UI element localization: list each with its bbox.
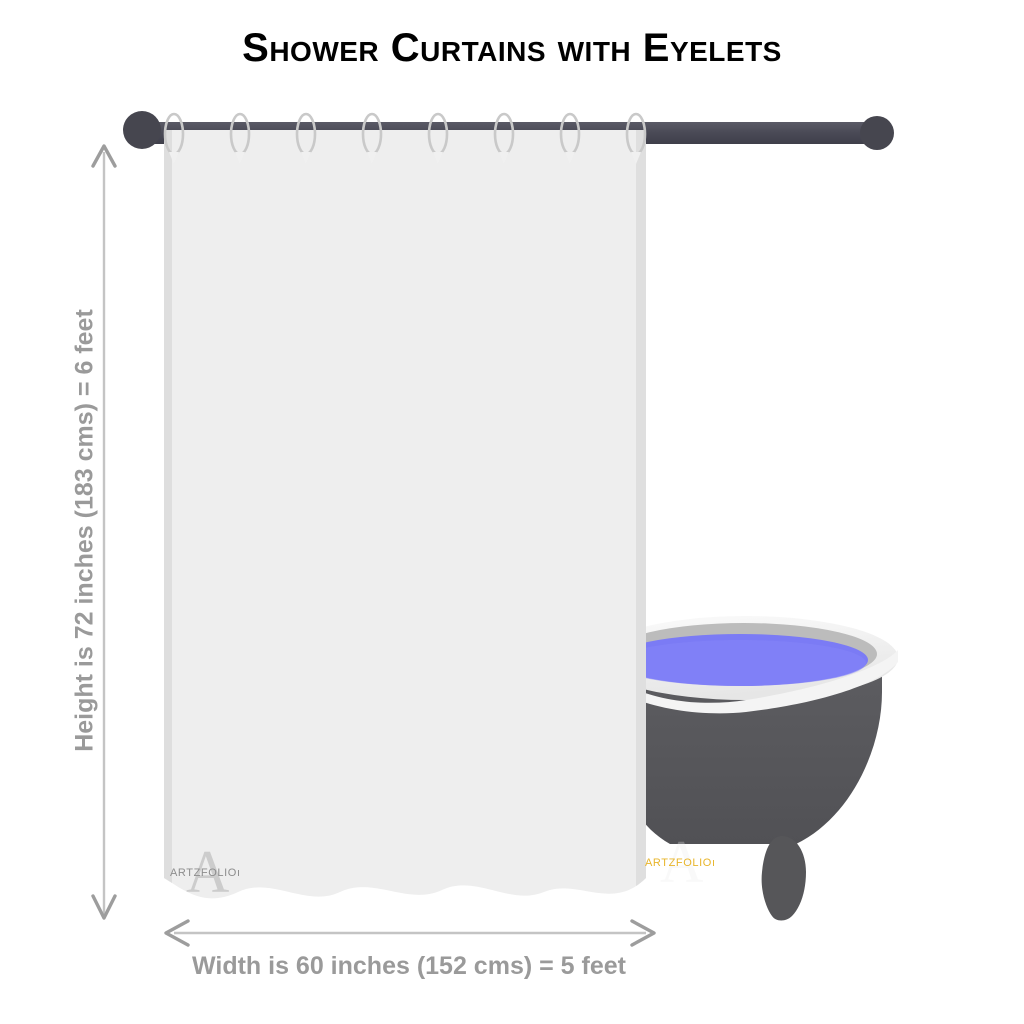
width-dimension-label: Width is 60 inches (152 cms) = 5 feet: [0, 952, 818, 981]
curtain-eyelet-ring: [561, 114, 579, 164]
product-dimension-diagram: Shower Curtains with Eyelets: [0, 0, 1024, 1024]
curtain-eyelet-ring: [627, 114, 645, 164]
eyelet-ring-loop: [495, 114, 513, 154]
eyelet-ring-loop: [429, 114, 447, 154]
eyelet-ring-loop: [627, 114, 645, 154]
curtain-eyelet-ring: [297, 114, 315, 164]
eyelet-hook-tip: [169, 152, 179, 164]
eyelet-ring-loop: [363, 114, 381, 154]
curtain-eyelet-ring: [363, 114, 381, 164]
eyelet-ring-loop: [165, 114, 183, 154]
eyelet-ring-loop: [561, 114, 579, 154]
eyelet-hook-tip: [235, 152, 245, 164]
eyelet-hook-tip: [499, 152, 509, 164]
bathtub-claw-foot: [762, 836, 806, 921]
eyelet-hook-tip: [301, 152, 311, 164]
curtain-eyelet-ring: [165, 114, 183, 164]
width-dimension-arrow: [160, 915, 660, 951]
eyelet-hook-tip: [433, 152, 443, 164]
eyelet-hook-tip: [367, 152, 377, 164]
page-title: Shower Curtains with Eyelets: [0, 26, 1024, 71]
eyelet-hook-tip: [631, 152, 641, 164]
eyelet-ring-loop: [231, 114, 249, 154]
curtain-eyelet-rings: [150, 108, 670, 188]
rod-finial-right: [860, 116, 894, 150]
curtain-fabric: [150, 130, 660, 930]
eyelet-hook-tip: [565, 152, 575, 164]
curtain-eyelet-ring: [495, 114, 513, 164]
curtain-eyelet-ring: [231, 114, 249, 164]
shower-curtain: [150, 130, 660, 930]
eyelet-ring-loop: [297, 114, 315, 154]
height-dimension-label: Height is 72 inches (183 cms) = 6 feet: [71, 221, 100, 841]
curtain-eyelet-ring: [429, 114, 447, 164]
